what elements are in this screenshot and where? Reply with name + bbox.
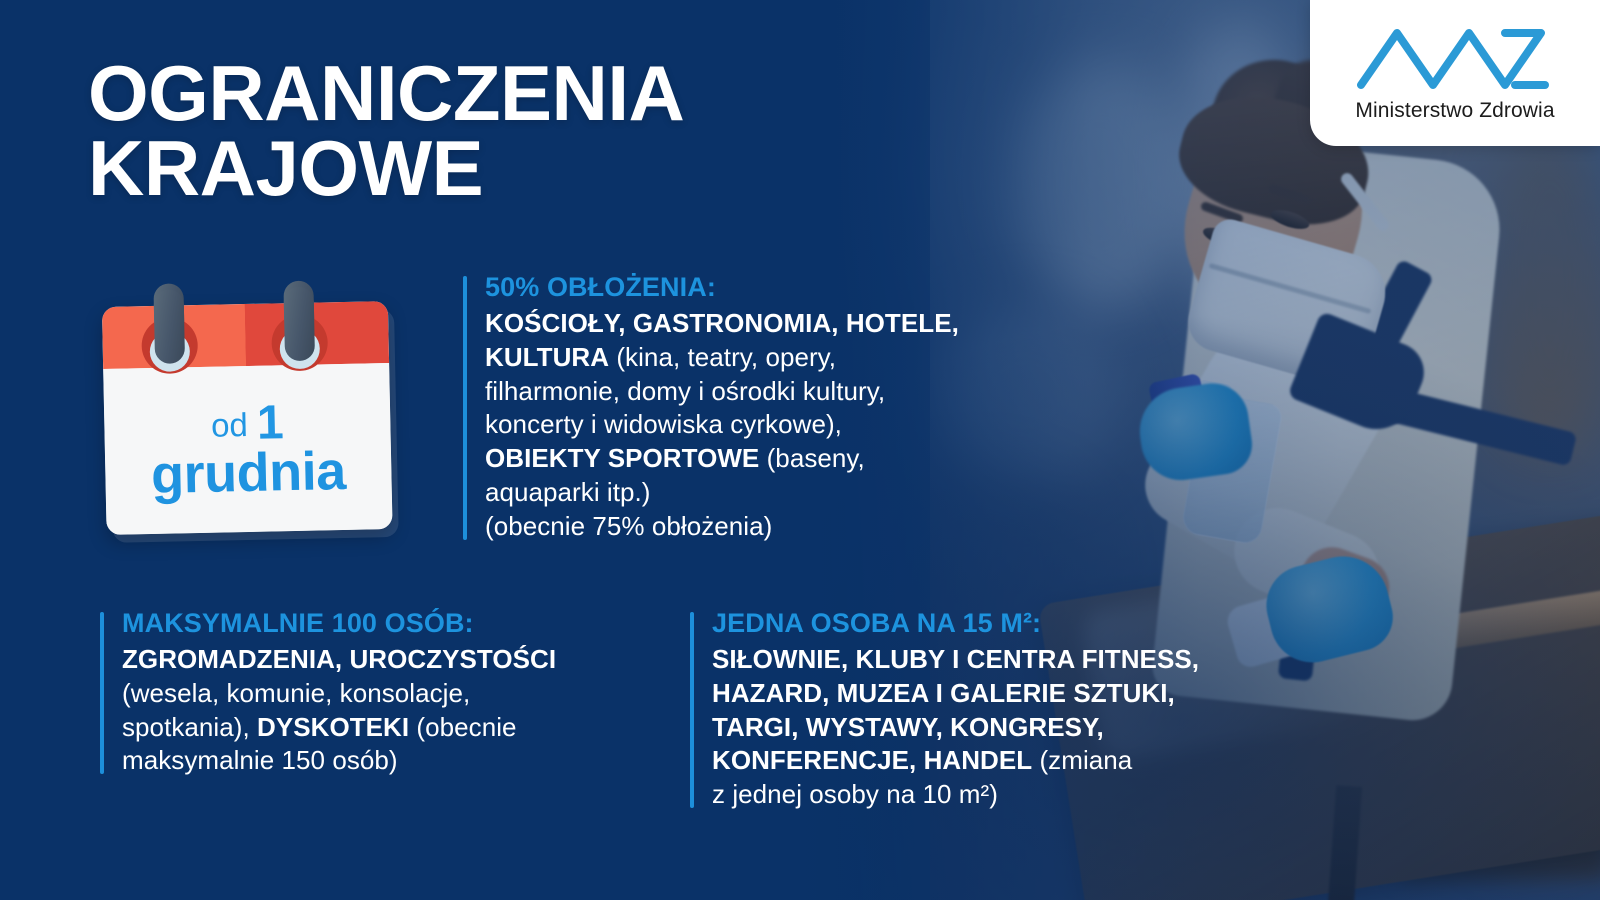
restriction-heading: JEDNA OSOBA NA 15 M²: xyxy=(712,608,1312,639)
restriction-body: ZGROMADZENIA, UROCZYSTOŚCI(wesela, komun… xyxy=(122,643,667,778)
restriction-body: SIŁOWNIE, KLUBY I CENTRA FITNESS,HAZARD,… xyxy=(712,643,1312,812)
calendar-post-front xyxy=(283,287,315,362)
calendar-prefix: od xyxy=(211,406,258,444)
restriction-heading: 50% OBŁOŻENIA: xyxy=(485,272,1045,303)
mz-zigzag-logo-icon xyxy=(1355,23,1555,95)
restriction-heading: MAKSYMALNIE 100 OSÓB: xyxy=(122,608,667,639)
ministry-logo-label: Ministerstwo Zdrowia xyxy=(1355,99,1554,123)
page-title: OGRANICZENIA KRAJOWE xyxy=(88,56,684,206)
calendar-post-front xyxy=(154,289,186,364)
restriction-block-area: JEDNA OSOBA NA 15 M²: SIŁOWNIE, KLUBY I … xyxy=(690,608,1312,812)
calendar-month: grudnia xyxy=(105,443,392,503)
infographic-canvas: Ministerstwo Zdrowia OGRANICZENIA KRAJOW… xyxy=(0,0,1600,900)
ministry-logo: Ministerstwo Zdrowia xyxy=(1310,0,1600,146)
restriction-block-gatherings: MAKSYMALNIE 100 OSÓB: ZGROMADZENIA, UROC… xyxy=(100,608,667,778)
calendar-icon: od 1 grudnia xyxy=(101,279,392,535)
restriction-block-occupancy: 50% OBŁOŻENIA: KOŚCIOŁY, GASTRONOMIA, HO… xyxy=(463,272,1045,544)
restriction-body: KOŚCIOŁY, GASTRONOMIA, HOTELE,KULTURA (k… xyxy=(485,307,1045,544)
